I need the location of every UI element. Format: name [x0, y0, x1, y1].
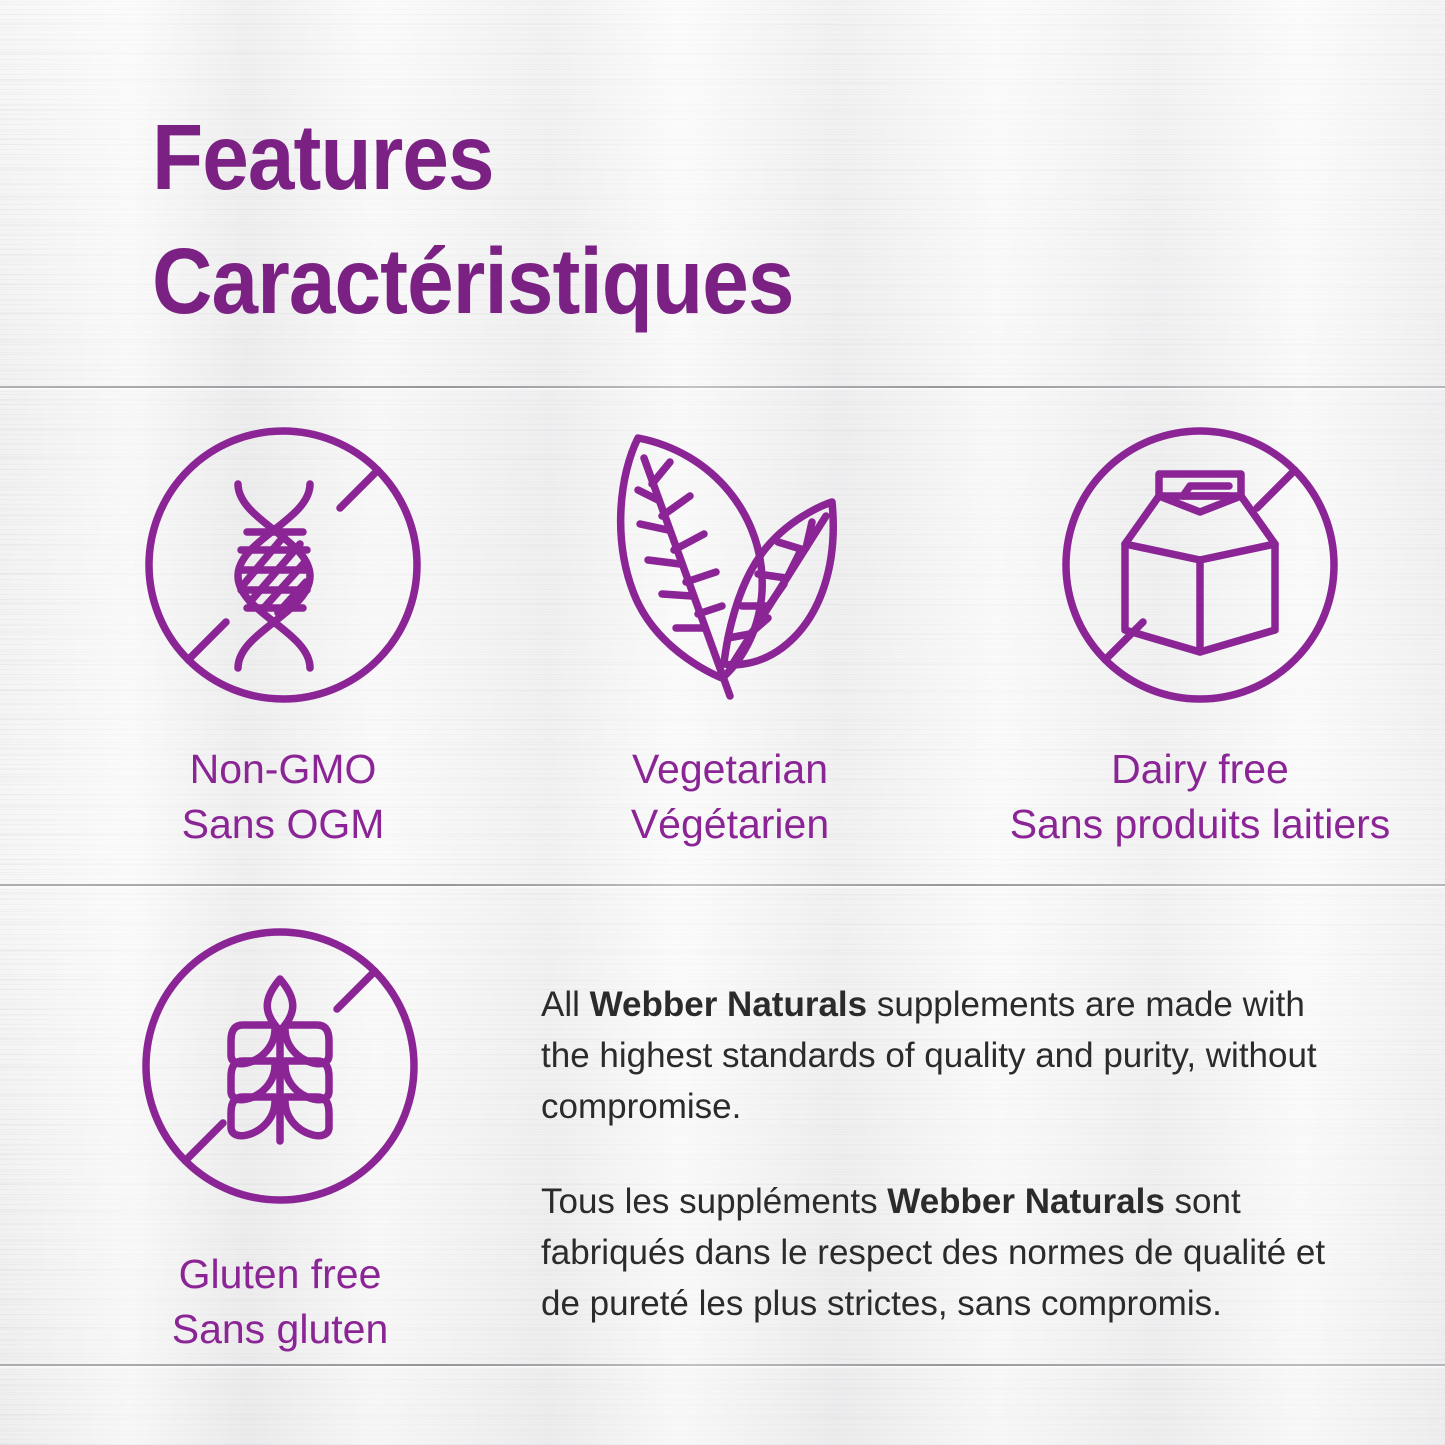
- copy-fr-before: Tous les suppléments: [541, 1182, 887, 1221]
- feature-label-fr: Sans produits laitiers: [965, 797, 1435, 852]
- feature-label-en: Dairy free: [965, 742, 1435, 797]
- paragraph-gap: [541, 1132, 1331, 1176]
- brand-statement-en: All Webber Naturals supplements are made…: [541, 979, 1331, 1132]
- page-title-fr: Caractéristiques: [152, 220, 1142, 344]
- plank-divider: [0, 386, 1445, 388]
- page-title: Features Caractéristiques: [152, 96, 1142, 343]
- features-panel: Features Caractéristiques: [0, 0, 1445, 1445]
- feature-label-en: Vegetarian: [525, 742, 935, 797]
- feature-label: Non-GMO Sans OGM: [78, 742, 488, 851]
- feature-label: Vegetarian Végétarien: [525, 742, 935, 851]
- feature-gluten-free: Gluten free Sans gluten: [75, 925, 485, 1356]
- feature-dairy-free: Dairy free Sans produits laitiers: [965, 424, 1435, 851]
- no-milk-carton-icon: [1059, 424, 1341, 706]
- feature-label-fr: Végétarien: [525, 797, 935, 852]
- leaves-icon: [600, 424, 860, 706]
- brand-name-fr: Webber Naturals: [887, 1182, 1165, 1221]
- brand-statement: All Webber Naturals supplements are made…: [541, 979, 1331, 1330]
- no-wheat-icon: [139, 925, 421, 1207]
- page-title-en: Features: [152, 96, 1142, 220]
- feature-label: Dairy free Sans produits laitiers: [965, 742, 1435, 851]
- no-dna-icon: [142, 424, 424, 706]
- feature-label-en: Gluten free: [75, 1247, 485, 1302]
- brand-statement-fr: Tous les suppléments Webber Naturals son…: [541, 1176, 1331, 1329]
- feature-vegetarian: Vegetarian Végétarien: [525, 424, 935, 851]
- copy-en-before: All: [541, 985, 590, 1024]
- feature-non-gmo: Non-GMO Sans OGM: [78, 424, 488, 851]
- plank-divider: [0, 884, 1445, 886]
- brand-name-en: Webber Naturals: [590, 985, 868, 1024]
- feature-label-en: Non-GMO: [78, 742, 488, 797]
- feature-label: Gluten free Sans gluten: [75, 1247, 485, 1356]
- plank-divider: [0, 1364, 1445, 1366]
- feature-label-fr: Sans gluten: [75, 1302, 485, 1357]
- feature-label-fr: Sans OGM: [78, 797, 488, 852]
